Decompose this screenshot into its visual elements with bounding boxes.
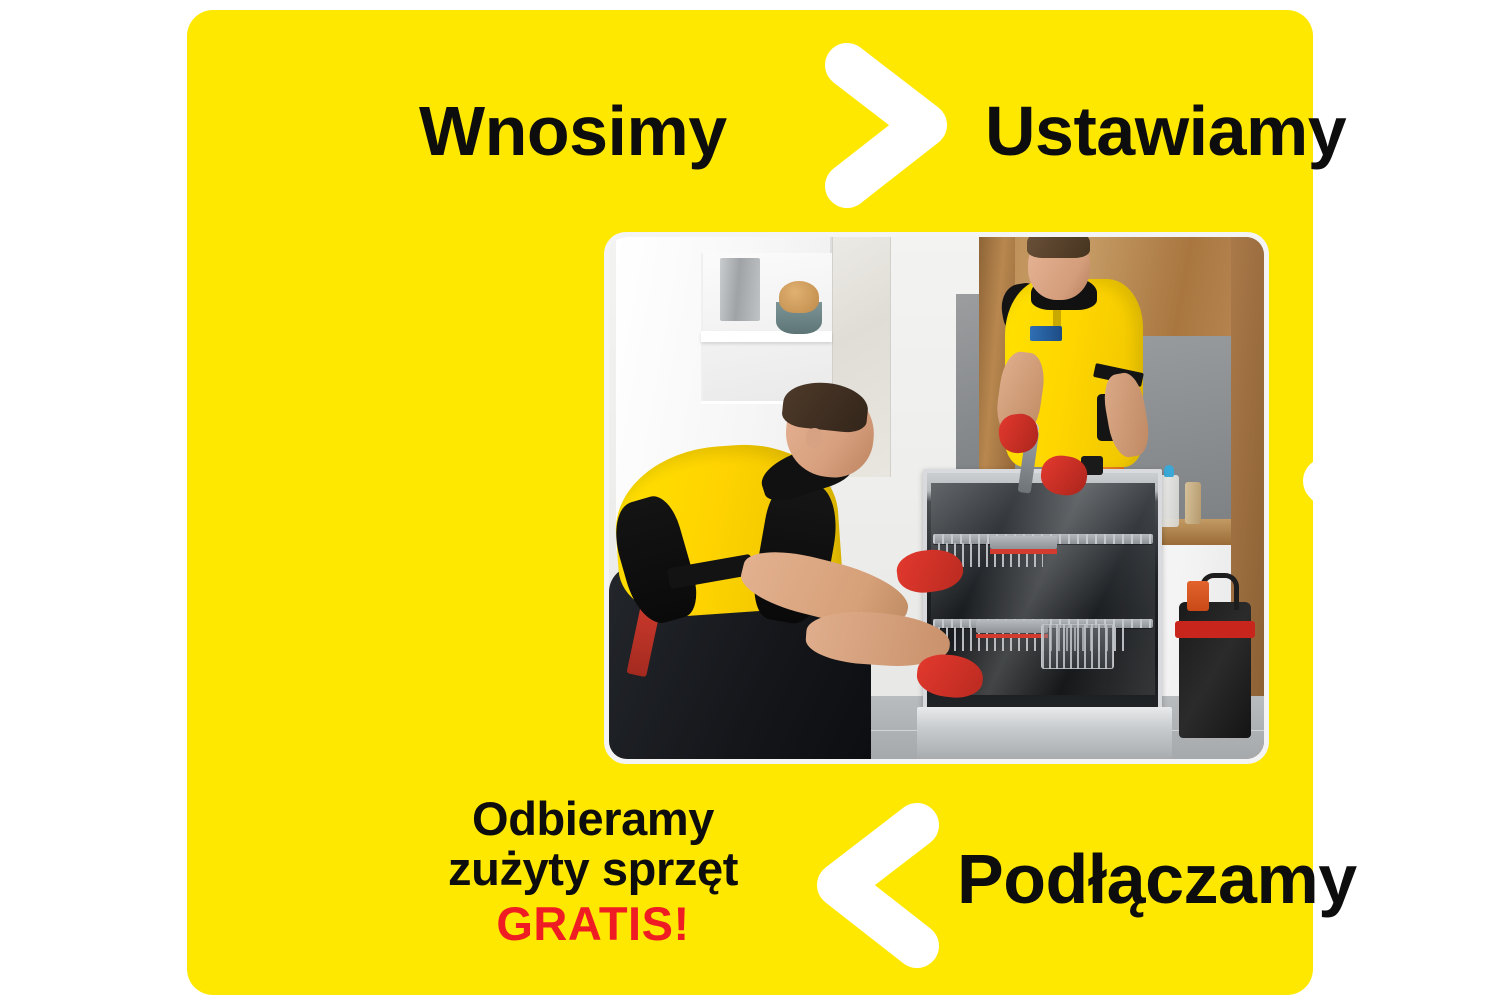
yellow-card: Wnosimy Ustawiamy (187, 10, 1313, 995)
photo-tool-bag-handle (1200, 573, 1239, 611)
step-label-ustawiamy: Ustawiamy (985, 92, 1346, 170)
free-pickup-offer: Odbieramy zużyty sprzęt GRATIS! (387, 794, 799, 949)
photo-upper-rack-holder (990, 536, 1057, 550)
offer-gratis-badge: GRATIS! (387, 899, 799, 949)
step-label-wnosimy: Wnosimy (419, 92, 727, 170)
photo-tech2-hair (1027, 237, 1090, 258)
photo-tool-bag (1179, 602, 1251, 738)
chevron-left-icon (807, 803, 947, 968)
photo-lower-rack-holder (976, 620, 1048, 634)
photo-dishwasher-door (917, 707, 1172, 759)
offer-line-1: Odbieramy (387, 794, 799, 844)
photo-tech2-chest-logo (1030, 326, 1063, 342)
offer-line-2: zużyty sprzęt (387, 844, 799, 894)
photo-shelf-board (701, 331, 832, 342)
photo-spice-jar (1185, 482, 1201, 524)
photo-lower-rack-accent (976, 634, 1048, 638)
photo-dishwasher (923, 469, 1162, 740)
promo-banner: Wnosimy Ustawiamy (0, 0, 1500, 1007)
photo-cutlery-basket (1041, 624, 1115, 669)
photo-upper-rack-accent (990, 549, 1057, 553)
step-label-podlaczamy: Podłączamy (957, 840, 1357, 918)
service-photo (609, 237, 1264, 759)
photo-bread-loaf (779, 281, 818, 312)
photo-tech1-ear (806, 428, 823, 449)
photo-utensil-jar (720, 258, 759, 321)
chevron-right-icon (817, 43, 957, 208)
service-photo-frame (604, 232, 1269, 764)
chevron-down-icon (1300, 453, 1485, 598)
photo-water-bottle (1159, 475, 1179, 527)
